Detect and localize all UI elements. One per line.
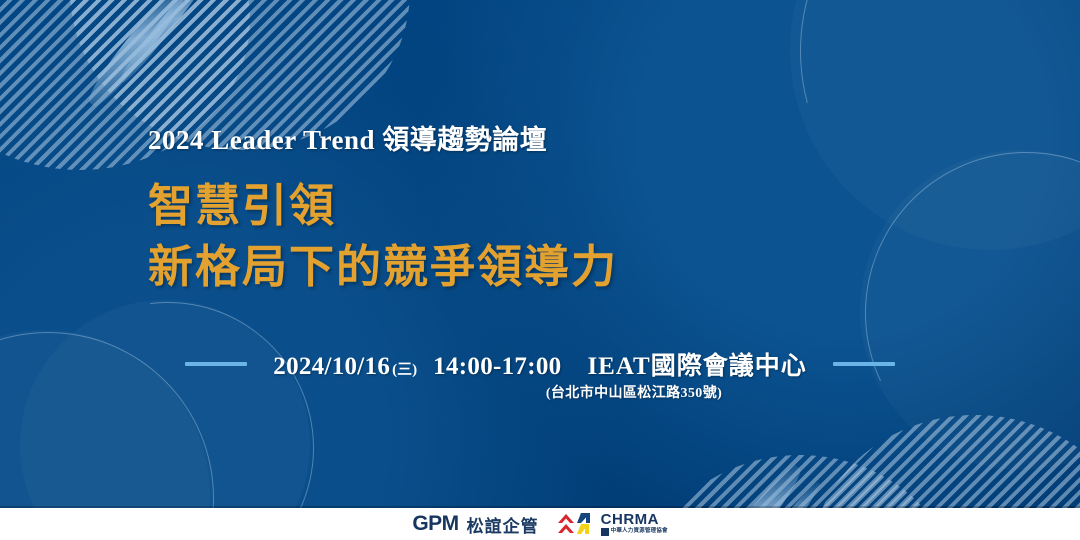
event-details: 2024/10/16 (三) 14:00-17:00 IEAT國際會議中心 (273, 346, 806, 382)
event-address: (台北市中山區松江路350號) (0, 382, 1080, 402)
chrma-subtitle-row: 中華人力資源管理協會 (601, 528, 668, 536)
decorative-rule-right (833, 362, 895, 366)
event-time: 14:00-17:00 (417, 353, 561, 381)
poster-headline: 智慧引領 新格局下的競爭領導力 (148, 176, 618, 298)
event-date: 2024/10/16 (273, 353, 390, 381)
event-venue: IEAT國際會議中心 (561, 346, 806, 382)
poster-background: 2024 Leader Trend 領導趨勢論壇 智慧引領 新格局下的競爭領導力… (0, 0, 1080, 508)
headline-line-2: 新格局下的競爭領導力 (148, 237, 618, 298)
chrma-wordmark: CHRMA (601, 512, 659, 527)
chrma-badge-icon (601, 528, 609, 536)
decorative-rule-left (185, 362, 247, 366)
chrma-chinese-name: 中華人力資源管理協會 (611, 529, 668, 535)
chrma-text-block: CHRMA 中華人力資源管理協會 (601, 512, 668, 536)
gpm-logo: GPM 松誼企管 (412, 512, 538, 537)
event-series-title: 2024 Leader Trend 領導趨勢論壇 (148, 118, 547, 157)
poster-footer: GPM 松誼企管 CHRMA 中華人力資源管理協會 (0, 508, 1080, 540)
event-details-row: 2024/10/16 (三) 14:00-17:00 IEAT國際會議中心 (0, 346, 1080, 382)
gpm-chinese-name: 松誼企管 (467, 512, 539, 537)
chrma-logo: CHRMA 中華人力資源管理協會 (557, 512, 668, 536)
headline-line-1: 智慧引領 (148, 181, 336, 231)
gpm-wordmark: GPM (412, 512, 458, 536)
poster-content: 2024 Leader Trend 領導趨勢論壇 智慧引領 新格局下的競爭領導力… (0, 0, 1080, 508)
chrma-chevron-icon (557, 512, 595, 536)
event-weekday: (三) (390, 358, 417, 379)
event-poster: 2024 Leader Trend 領導趨勢論壇 智慧引領 新格局下的競爭領導力… (0, 0, 1080, 540)
